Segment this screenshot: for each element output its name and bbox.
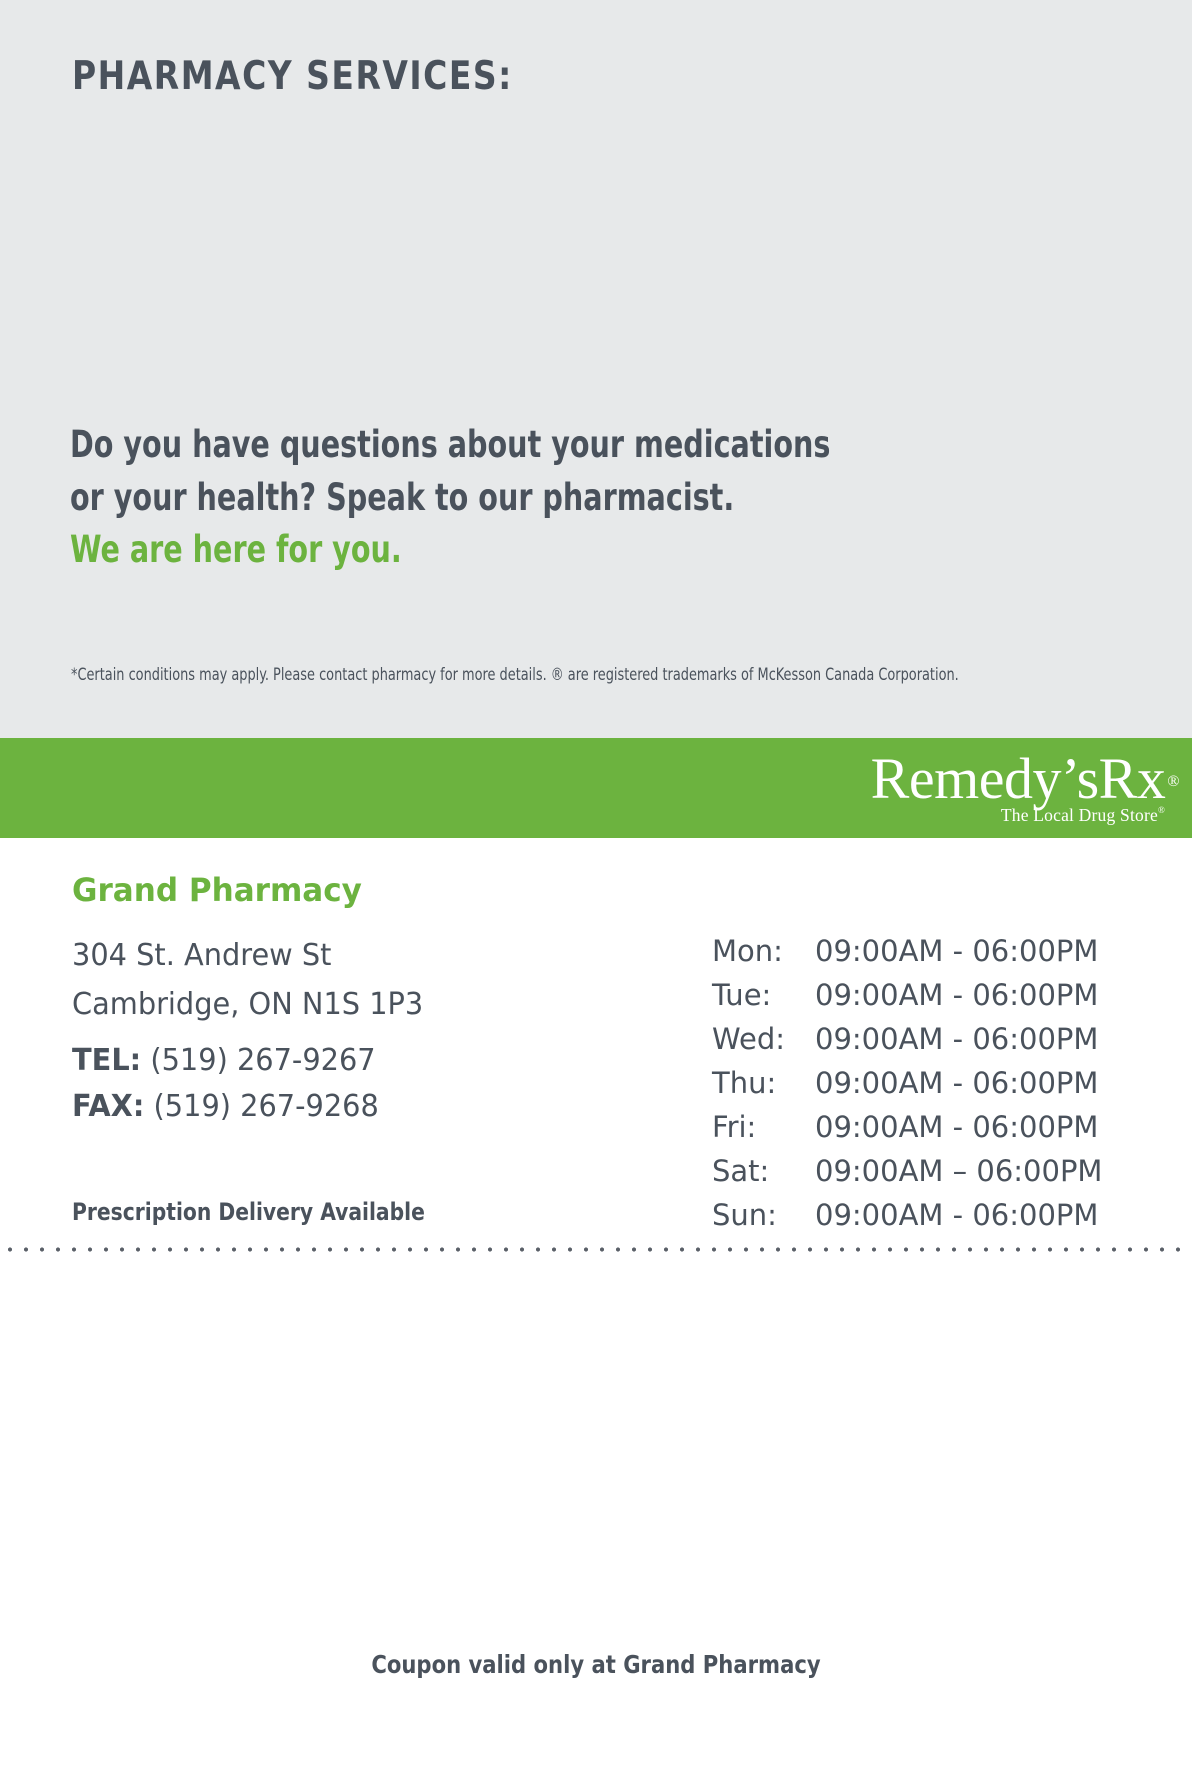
hours-time-value: 09:00AM - 06:00PM — [815, 1061, 1102, 1105]
promo-tagline: We are here for you. — [70, 525, 402, 575]
store-hours-body: Mon: 09:00AM - 06:00PM Tue: 09:00AM - 06… — [712, 929, 1102, 1237]
table-row: Sun: 09:00AM - 06:00PM — [712, 1193, 1102, 1237]
store-name: Grand Pharmacy — [72, 871, 362, 909]
hours-day-label: Sun: — [712, 1193, 815, 1237]
promo-headline-line-1: Do you have questions about your medicat… — [70, 418, 870, 471]
page-title: PHARMACY SERVICES: — [72, 54, 513, 99]
table-row: Thu: 09:00AM - 06:00PM — [712, 1061, 1102, 1105]
hours-time-value: 09:00AM - 06:00PM — [815, 929, 1102, 973]
table-row: Mon: 09:00AM - 06:00PM — [712, 929, 1102, 973]
fax-value: (519) 267-9268 — [154, 1089, 379, 1124]
telephone-label: TEL: — [72, 1043, 141, 1078]
store-hours-table: Mon: 09:00AM - 06:00PM Tue: 09:00AM - 06… — [712, 929, 1102, 1237]
hours-day-label: Tue: — [712, 973, 815, 1017]
coupon-validity-note: Coupon valid only at Grand Pharmacy — [0, 1650, 1192, 1679]
promo-headline: Do you have questions about your medicat… — [70, 418, 870, 524]
address-line-2: Cambridge, ON N1S 1P3 — [72, 980, 423, 1029]
hours-day-label: Sat: — [712, 1149, 815, 1193]
store-address: 304 St. Andrew St Cambridge, ON N1S 1P3 — [72, 931, 423, 1029]
hours-day-label: Wed: — [712, 1017, 815, 1061]
delivery-note: Prescription Delivery Available — [72, 1198, 425, 1226]
table-row: Sat: 09:00AM – 06:00PM — [712, 1149, 1102, 1193]
registered-trademark-icon: ® — [1167, 773, 1179, 790]
hours-time-value: 09:00AM – 06:00PM — [815, 1149, 1102, 1193]
registered-trademark-small-icon: ® — [1158, 805, 1165, 815]
fax-row: FAX: (519) 267-9268 — [72, 1084, 379, 1130]
coupon-cut-divider — [0, 1247, 1192, 1252]
telephone-row: TEL: (519) 267-9267 — [72, 1038, 379, 1084]
hours-day-label: Mon: — [712, 929, 815, 973]
hours-time-value: 09:00AM - 06:00PM — [815, 973, 1102, 1017]
coupon-validity-text: Coupon valid only at Grand Pharmacy — [371, 1650, 820, 1679]
brand-logo-tagline-text: The Local Drug Store — [1001, 805, 1158, 825]
brand-logo-wordmark: Remedy’sRx® — [871, 750, 1177, 808]
brand-banner: Remedy’sRx® The Local Drug Store® — [0, 738, 1192, 838]
remedysrx-logo: Remedy’sRx® The Local Drug Store® — [871, 750, 1177, 824]
hours-time-value: 09:00AM - 06:00PM — [815, 1105, 1102, 1149]
fax-label: FAX: — [72, 1089, 144, 1124]
pharmacy-services-panel: PHARMACY SERVICES: Do you have questions… — [0, 0, 1192, 738]
hours-day-label: Fri: — [712, 1105, 815, 1149]
store-contact: TEL: (519) 267-9267 FAX: (519) 267-9268 — [72, 1038, 379, 1130]
table-row: Fri: 09:00AM - 06:00PM — [712, 1105, 1102, 1149]
disclaimer-text: *Certain conditions may apply. Please co… — [71, 663, 989, 686]
address-line-1: 304 St. Andrew St — [72, 931, 423, 980]
hours-time-value: 09:00AM - 06:00PM — [815, 1193, 1102, 1237]
table-row: Wed: 09:00AM - 06:00PM — [712, 1017, 1102, 1061]
hours-day-label: Thu: — [712, 1061, 815, 1105]
hours-time-value: 09:00AM - 06:00PM — [815, 1017, 1102, 1061]
telephone-value[interactable]: (519) 267-9267 — [150, 1043, 375, 1078]
promo-headline-line-2: or your health? Speak to our pharmacist. — [70, 471, 870, 524]
table-row: Tue: 09:00AM - 06:00PM — [712, 973, 1102, 1017]
